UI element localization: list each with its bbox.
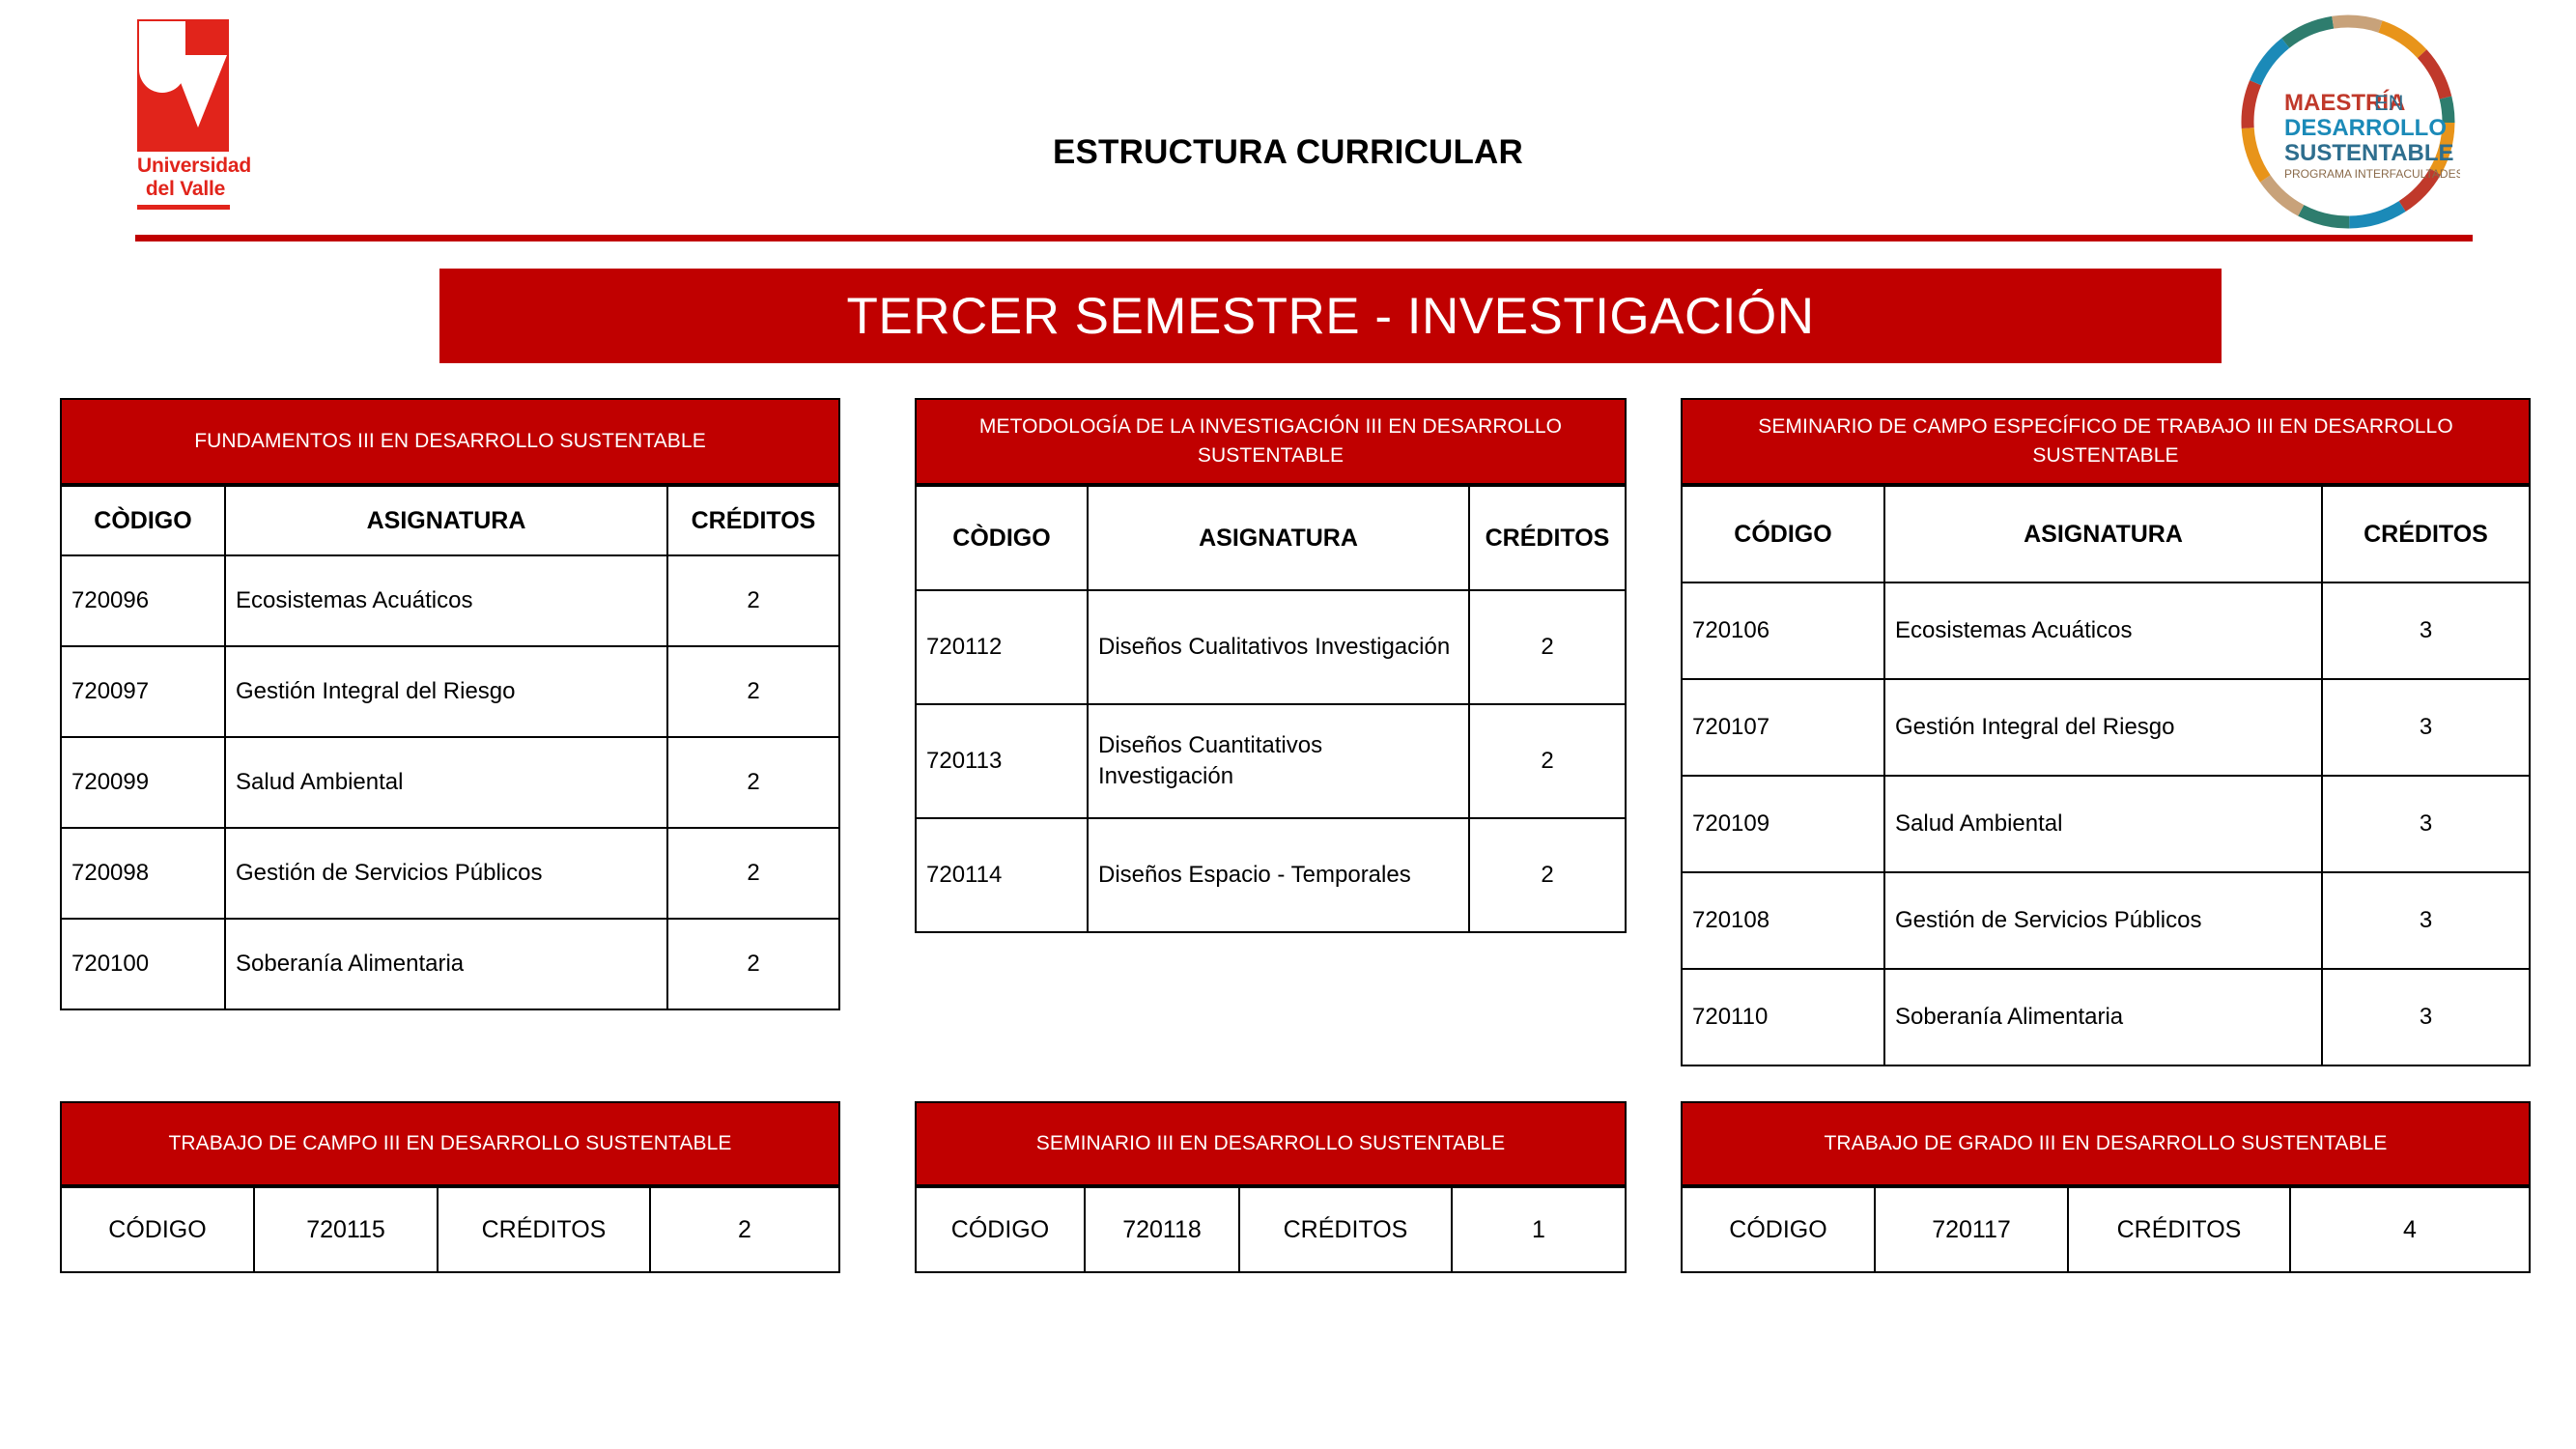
page-title: ESTRUCTURA CURRICULAR <box>0 133 2576 172</box>
cell-codigo: 720099 <box>61 737 225 828</box>
label-codigo: CÓDIGO <box>61 1187 254 1272</box>
cell-creditos: 3 <box>2322 679 2530 776</box>
table-row: 720110 Soberanía Alimentaria 3 <box>1682 969 2530 1065</box>
value-codigo: 720118 <box>1085 1187 1239 1272</box>
cell-creditos: 2 <box>667 737 839 828</box>
cell-codigo: 720100 <box>61 919 225 1009</box>
cell-asignatura: Gestión Integral del Riesgo <box>1884 679 2322 776</box>
cell-creditos: 2 <box>1469 590 1626 704</box>
col-header-asignatura: ASIGNATURA <box>225 486 667 555</box>
col-header-asignatura: ASIGNATURA <box>1088 486 1469 590</box>
table-row: CÓDIGO 720117 CRÉDITOS 4 <box>1682 1187 2530 1272</box>
cell-creditos: 3 <box>2322 969 2530 1065</box>
cell-codigo: 720108 <box>1682 872 1884 969</box>
table-header-row: CÓDIGO ASIGNATURA CRÉDITOS <box>1682 486 2530 582</box>
col-header-creditos: CRÉDITOS <box>667 486 839 555</box>
cell-asignatura: Diseños Cuantitativos Investigación <box>1088 704 1469 818</box>
value-creditos: 1 <box>1452 1187 1626 1272</box>
label-creditos: CRÉDITOS <box>2068 1187 2290 1272</box>
table-row: 720107 Gestión Integral del Riesgo 3 <box>1682 679 2530 776</box>
cell-creditos: 2 <box>667 919 839 1009</box>
svg-text:PROGRAMA INTERFACULTADES: PROGRAMA INTERFACULTADES <box>2284 167 2460 181</box>
cell-codigo: 720097 <box>61 646 225 737</box>
univalle-wordmark-line2: del Valle <box>137 178 234 201</box>
cell-creditos: 3 <box>2322 582 2530 679</box>
cell-codigo: 720113 <box>916 704 1088 818</box>
table-row: 720112 Diseños Cualitativos Investigació… <box>916 590 1626 704</box>
cell-codigo: 720110 <box>1682 969 1884 1065</box>
block-header-metodologia: METODOLOGÍA DE LA INVESTIGACIÓN III EN D… <box>915 398 1627 485</box>
block-trabajo-campo: TRABAJO DE CAMPO III EN DESARROLLO SUSTE… <box>60 1101 840 1273</box>
block-seminario-iii: SEMINARIO III EN DESARROLLO SUSTENTABLE … <box>915 1101 1627 1273</box>
table-trabajo-campo: CÓDIGO 720115 CRÉDITOS 2 <box>60 1186 840 1273</box>
cell-creditos: 3 <box>2322 776 2530 872</box>
label-codigo: CÓDIGO <box>916 1187 1085 1272</box>
cell-asignatura: Gestión de Servicios Públicos <box>225 828 667 919</box>
table-row: 720099 Salud Ambiental 2 <box>61 737 839 828</box>
block-header-seminario-campo: SEMINARIO DE CAMPO ESPECÍFICO DE TRABAJO… <box>1681 398 2531 485</box>
cell-asignatura: Gestión Integral del Riesgo <box>225 646 667 737</box>
col-header-creditos: CRÉDITOS <box>2322 486 2530 582</box>
cell-asignatura: Gestión de Servicios Públicos <box>1884 872 2322 969</box>
cell-asignatura: Soberanía Alimentaria <box>1884 969 2322 1065</box>
value-creditos: 2 <box>650 1187 839 1272</box>
label-codigo: CÓDIGO <box>1682 1187 1875 1272</box>
cell-asignatura: Diseños Espacio - Temporales <box>1088 818 1469 932</box>
cell-creditos: 2 <box>667 646 839 737</box>
table-row: 720108 Gestión de Servicios Públicos 3 <box>1682 872 2530 969</box>
cell-asignatura: Diseños Cualitativos Investigación <box>1088 590 1469 704</box>
header-divider <box>135 235 2473 241</box>
block-header-seminario-iii: SEMINARIO III EN DESARROLLO SUSTENTABLE <box>915 1101 1627 1186</box>
cell-creditos: 2 <box>1469 704 1626 818</box>
cell-codigo: 720096 <box>61 555 225 646</box>
col-header-codigo: CÓDIGO <box>1682 486 1884 582</box>
table-metodologia: CÒDIGO ASIGNATURA CRÉDITOS 720112 Diseño… <box>915 485 1627 933</box>
table-row: CÓDIGO 720118 CRÉDITOS 1 <box>916 1187 1626 1272</box>
cell-creditos: 3 <box>2322 872 2530 969</box>
cell-asignatura: Ecosistemas Acuáticos <box>225 555 667 646</box>
table-row: 720100 Soberanía Alimentaria 2 <box>61 919 839 1009</box>
cell-asignatura: Salud Ambiental <box>1884 776 2322 872</box>
block-fundamentos: FUNDAMENTOS III EN DESARROLLO SUSTENTABL… <box>60 398 840 1010</box>
col-header-codigo: CÒDIGO <box>61 486 225 555</box>
block-trabajo-grado: TRABAJO DE GRADO III EN DESARROLLO SUSTE… <box>1681 1101 2531 1273</box>
semester-banner: TERCER SEMESTRE - INVESTIGACIÓN <box>439 269 2222 363</box>
svg-text:EN: EN <box>2374 91 2404 115</box>
svg-text:DESARROLLO: DESARROLLO <box>2284 115 2447 141</box>
table-row: 720113 Diseños Cuantitativos Investigaci… <box>916 704 1626 818</box>
cell-codigo: 720106 <box>1682 582 1884 679</box>
cell-asignatura: Salud Ambiental <box>225 737 667 828</box>
cell-asignatura: Ecosistemas Acuáticos <box>1884 582 2322 679</box>
table-header-row: CÒDIGO ASIGNATURA CRÉDITOS <box>61 486 839 555</box>
table-header-row: CÒDIGO ASIGNATURA CRÉDITOS <box>916 486 1626 590</box>
table-row: 720109 Salud Ambiental 3 <box>1682 776 2530 872</box>
value-creditos: 4 <box>2290 1187 2530 1272</box>
col-header-creditos: CRÉDITOS <box>1469 486 1626 590</box>
table-row: 720114 Diseños Espacio - Temporales 2 <box>916 818 1626 932</box>
block-header-trabajo-campo: TRABAJO DE CAMPO III EN DESARROLLO SUSTE… <box>60 1101 840 1186</box>
univalle-shield-icon <box>137 19 229 152</box>
univalle-logo: Universidad del Valle <box>137 19 234 222</box>
label-creditos: CRÉDITOS <box>1239 1187 1452 1272</box>
cell-codigo: 720114 <box>916 818 1088 932</box>
table-row: CÓDIGO 720115 CRÉDITOS 2 <box>61 1187 839 1272</box>
block-header-fundamentos: FUNDAMENTOS III EN DESARROLLO SUSTENTABL… <box>60 398 840 485</box>
col-header-codigo: CÒDIGO <box>916 486 1088 590</box>
cell-creditos: 2 <box>1469 818 1626 932</box>
table-row: 720098 Gestión de Servicios Públicos 2 <box>61 828 839 919</box>
block-seminario-campo: SEMINARIO DE CAMPO ESPECÍFICO DE TRABAJO… <box>1681 398 2531 1066</box>
value-codigo: 720115 <box>254 1187 438 1272</box>
svg-text:SUSTENTABLE: SUSTENTABLE <box>2284 140 2454 166</box>
table-fundamentos: CÒDIGO ASIGNATURA CRÉDITOS 720096 Ecosis… <box>60 485 840 1010</box>
table-row: 720096 Ecosistemas Acuáticos 2 <box>61 555 839 646</box>
cell-codigo: 720112 <box>916 590 1088 704</box>
label-creditos: CRÉDITOS <box>438 1187 650 1272</box>
col-header-asignatura: ASIGNATURA <box>1884 486 2322 582</box>
table-row: 720106 Ecosistemas Acuáticos 3 <box>1682 582 2530 679</box>
table-row: 720097 Gestión Integral del Riesgo 2 <box>61 646 839 737</box>
cell-creditos: 2 <box>667 828 839 919</box>
block-metodologia: METODOLOGÍA DE LA INVESTIGACIÓN III EN D… <box>915 398 1627 933</box>
block-header-trabajo-grado: TRABAJO DE GRADO III EN DESARROLLO SUSTE… <box>1681 1101 2531 1186</box>
table-trabajo-grado: CÓDIGO 720117 CRÉDITOS 4 <box>1681 1186 2531 1273</box>
cell-creditos: 2 <box>667 555 839 646</box>
cell-codigo: 720098 <box>61 828 225 919</box>
table-seminario-iii: CÓDIGO 720118 CRÉDITOS 1 <box>915 1186 1627 1273</box>
cell-codigo: 720107 <box>1682 679 1884 776</box>
table-seminario-campo: CÓDIGO ASIGNATURA CRÉDITOS 720106 Ecosis… <box>1681 485 2531 1066</box>
cell-codigo: 720109 <box>1682 776 1884 872</box>
maestria-desarrollo-sustentable-logo: MAESTRÍA EN DESARROLLO SUSTENTABLE PROGR… <box>2236 10 2460 234</box>
univalle-underline <box>137 205 230 210</box>
cell-asignatura: Soberanía Alimentaria <box>225 919 667 1009</box>
value-codigo: 720117 <box>1875 1187 2068 1272</box>
